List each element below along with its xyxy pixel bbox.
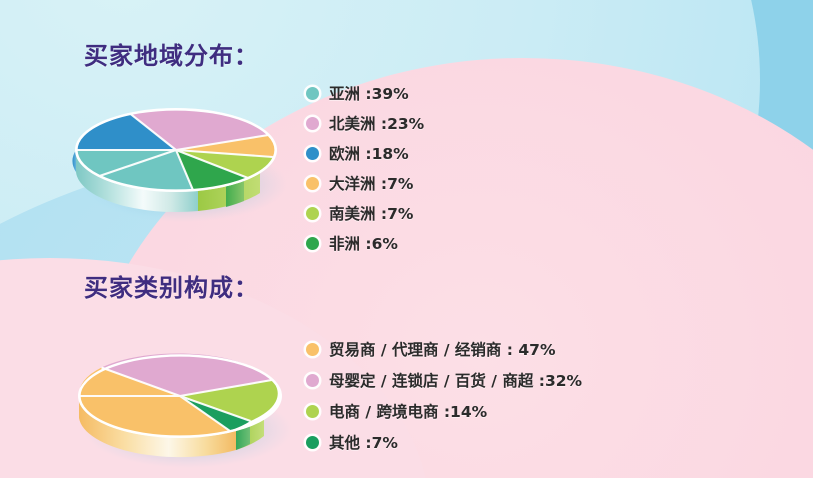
legend-item-ecommerce[interactable]: 电商 / 跨境电商 :14% (306, 400, 582, 422)
legend-item-asia[interactable]: 亚洲 :39% (306, 82, 424, 104)
page-title-category: 买家类别构成： (84, 268, 259, 303)
section-buyer-category: 买家类别构成： (0, 240, 813, 478)
legend-label-asia: 亚洲 :39% (329, 82, 409, 104)
legend-item-north-america[interactable]: 北美洲 :23% (306, 112, 424, 134)
legend-swatch-icon (306, 87, 319, 100)
legend-item-south-america[interactable]: 南美洲 :7% (306, 202, 424, 224)
pie-chart-region-svg (64, 72, 289, 222)
legend-category: 贸易商 / 代理商 / 经销商 : 47% 母婴定 / 连锁店 / 百货 / 商… (306, 338, 582, 462)
pie-chart-category-svg (64, 318, 299, 468)
infographic-stage: 买家地域分布： (0, 0, 813, 478)
pie-chart-region (64, 72, 289, 222)
legend-item-oceania[interactable]: 大洋洲 :7% (306, 172, 424, 194)
page-title-region: 买家地域分布： (84, 36, 259, 71)
legend-swatch-icon (306, 177, 319, 190)
legend-label-europe: 欧洲 :18% (329, 142, 409, 164)
legend-label-oceania: 大洋洲 :7% (329, 172, 413, 194)
legend-swatch-icon (306, 436, 319, 449)
legend-region: 亚洲 :39% 北美洲 :23% 欧洲 :18% 大洋洲 :7% 南美洲 :7% (306, 82, 424, 262)
legend-swatch-icon (306, 374, 319, 387)
legend-item-other[interactable]: 其他 :7% (306, 431, 582, 453)
legend-swatch-icon (306, 405, 319, 418)
pie-chart-category (64, 318, 299, 468)
legend-swatch-icon (306, 117, 319, 130)
legend-label-south-america: 南美洲 :7% (329, 202, 413, 224)
section-buyer-region: 买家地域分布： (0, 0, 813, 240)
legend-label-other: 其他 :7% (329, 431, 398, 453)
legend-label-north-america: 北美洲 :23% (329, 112, 424, 134)
legend-item-retail[interactable]: 母婴定 / 连锁店 / 百货 / 商超 :32% (306, 369, 582, 391)
legend-swatch-icon (306, 147, 319, 160)
legend-item-europe[interactable]: 欧洲 :18% (306, 142, 424, 164)
legend-item-trader[interactable]: 贸易商 / 代理商 / 经销商 : 47% (306, 338, 582, 360)
legend-label-retail: 母婴定 / 连锁店 / 百货 / 商超 :32% (329, 369, 582, 391)
legend-swatch-icon (306, 207, 319, 220)
legend-label-trader: 贸易商 / 代理商 / 经销商 : 47% (329, 338, 556, 360)
content-root: 买家地域分布： (0, 0, 813, 478)
legend-swatch-icon (306, 343, 319, 356)
legend-label-ecommerce: 电商 / 跨境电商 :14% (329, 400, 487, 422)
